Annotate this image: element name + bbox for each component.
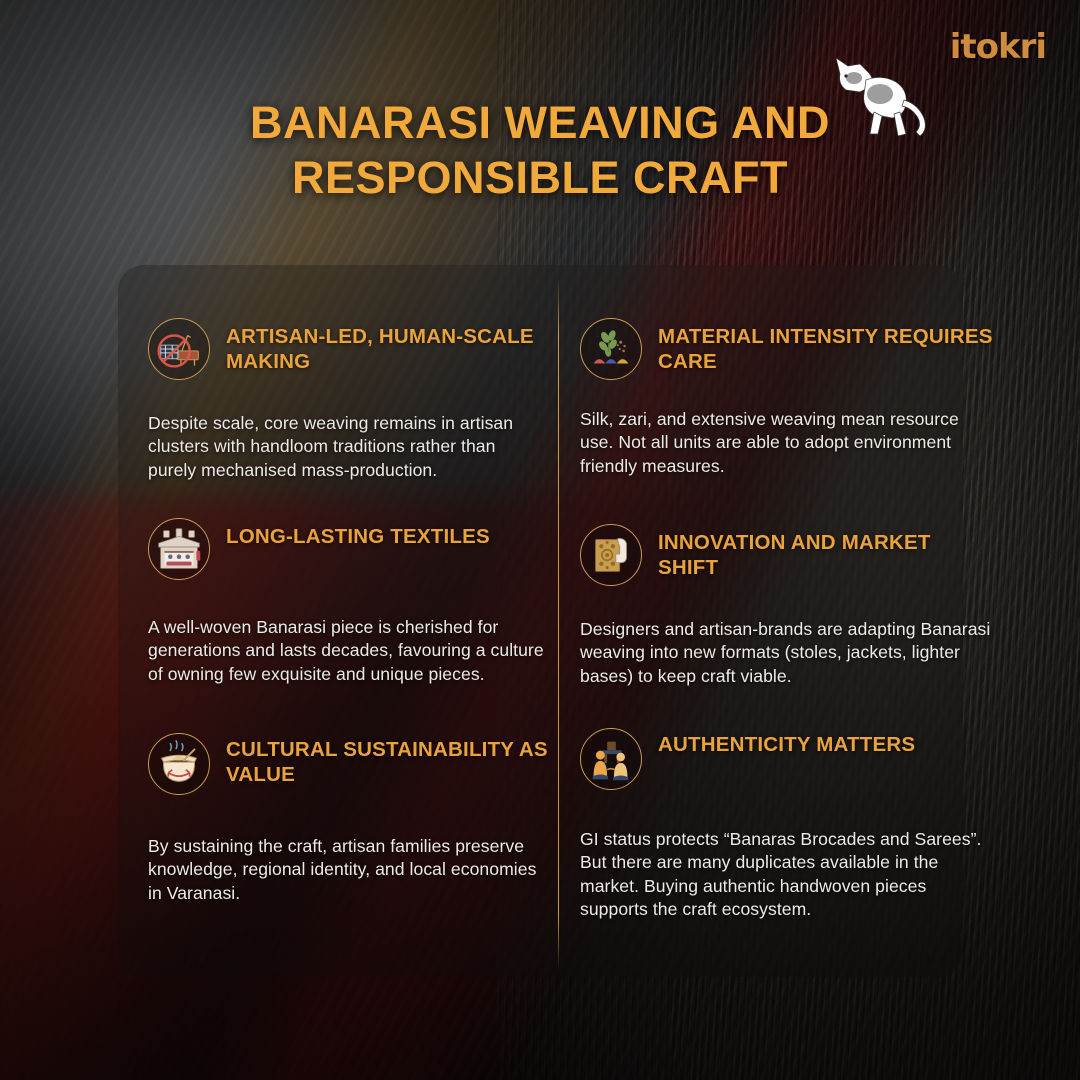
card-title: CULTURAL SUSTAINABILITY AS VALUE: [226, 733, 548, 787]
two-seated-artisans-icon: [580, 728, 642, 790]
card-header: CULTURAL SUSTAINABILITY AS VALUE: [148, 733, 548, 795]
card-title: INNOVATION AND MARKET SHIFT: [658, 524, 995, 580]
craft-shop-icon: [148, 518, 210, 580]
card-body: A well-woven Banarasi piece is cherished…: [148, 616, 548, 686]
card-header: LONG-LASTING TEXTILES: [148, 518, 548, 580]
card-material-intensity: MATERIAL INTENSITY REQUIRES CARE Silk, z…: [580, 318, 995, 478]
card-header: INNOVATION AND MARKET SHIFT: [580, 524, 995, 586]
card-body: By sustaining the craft, artisan familie…: [148, 835, 548, 905]
card-cultural-sustainability: CULTURAL SUSTAINABILITY AS VALUE By sust…: [148, 733, 548, 905]
card-body: Designers and artisan-brands are adaptin…: [580, 618, 995, 688]
no-mass-production-icon: [148, 318, 210, 380]
card-innovation-market-shift: INNOVATION AND MARKET SHIFT Designers an…: [580, 524, 995, 688]
page-title-line-2: RESPONSIBLE CRAFT: [0, 151, 1080, 206]
hand-holding-brocade-icon: [580, 524, 642, 586]
card-title: ARTISAN-LED, HUMAN-SCALE MAKING: [226, 318, 548, 374]
page-title-line-1: BANARASI WEAVING AND: [0, 96, 1080, 151]
column-divider: [558, 278, 559, 970]
card-header: AUTHENTICITY MATTERS: [580, 728, 995, 790]
card-title: MATERIAL INTENSITY REQUIRES CARE: [658, 318, 995, 374]
page-title: BANARASI WEAVING AND RESPONSIBLE CRAFT: [0, 96, 1080, 206]
card-header: ARTISAN-LED, HUMAN-SCALE MAKING: [148, 318, 548, 380]
card-body: Despite scale, core weaving remains in a…: [148, 412, 548, 482]
card-title: AUTHENTICITY MATTERS: [658, 728, 915, 758]
steaming-dye-pot-icon: [148, 733, 210, 795]
card-header: MATERIAL INTENSITY REQUIRES CARE: [580, 318, 995, 380]
card-title: LONG-LASTING TEXTILES: [226, 518, 490, 550]
card-authenticity-matters: AUTHENTICITY MATTERS GI status protects …: [580, 728, 995, 922]
card-long-lasting-textiles: LONG-LASTING TEXTILES A well-woven Banar…: [148, 518, 548, 686]
card-artisan-led: ARTISAN-LED, HUMAN-SCALE MAKING Despite …: [148, 318, 548, 482]
card-body: GI status protects “Banaras Brocades and…: [580, 828, 995, 922]
brand-logo-text: itokri: [950, 30, 1046, 64]
natural-dye-leaves-icon: [580, 318, 642, 380]
infographic-stage: itokri BANARASI WEAVING AND RESPONSIBLE …: [0, 0, 1080, 1080]
card-body: Silk, zari, and extensive weaving mean r…: [580, 408, 995, 478]
